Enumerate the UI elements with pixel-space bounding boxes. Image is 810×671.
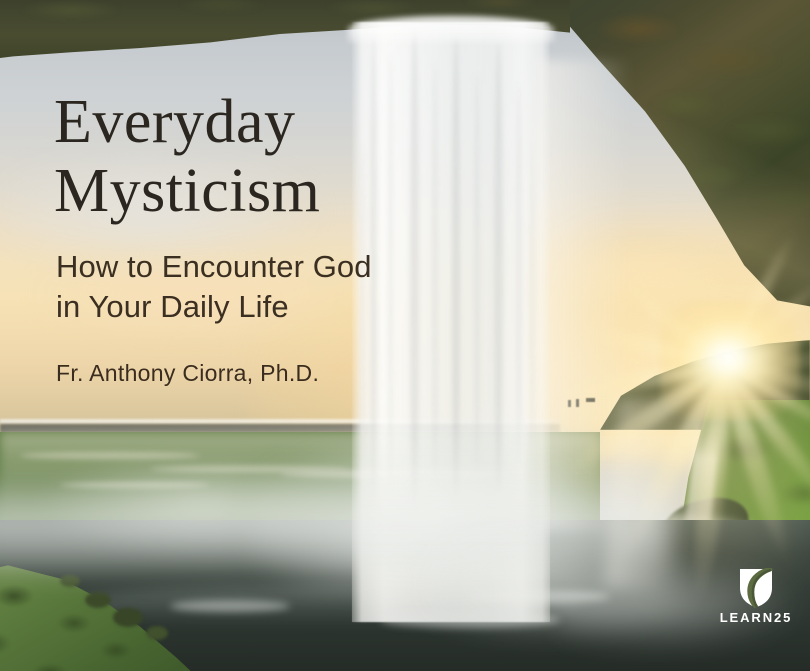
rock bbox=[146, 626, 168, 640]
book-title: Everyday Mysticism bbox=[54, 88, 414, 227]
book-cover: Everyday Mysticism How to Encounter God … bbox=[0, 0, 810, 671]
book-subtitle: How to Encounter God in Your Daily Life bbox=[56, 247, 416, 328]
subtitle-line-1: How to Encounter God bbox=[56, 249, 372, 284]
waterfall-lip bbox=[348, 16, 554, 42]
rock bbox=[85, 592, 111, 608]
subtitle-line-2: in Your Daily Life bbox=[56, 287, 416, 327]
learn25-logo: LEARN25 bbox=[716, 568, 796, 630]
pool-foam bbox=[170, 600, 290, 612]
learn25-shield-leaf-icon bbox=[738, 568, 774, 608]
sun-core bbox=[660, 300, 800, 420]
rock bbox=[113, 608, 143, 627]
learn25-wordmark: LEARN25 bbox=[716, 610, 796, 625]
title-line-2: Mysticism bbox=[54, 157, 414, 226]
author-name: Fr. Anthony Ciorra, Ph.D. bbox=[56, 360, 456, 387]
title-line-1: Everyday bbox=[54, 88, 296, 156]
